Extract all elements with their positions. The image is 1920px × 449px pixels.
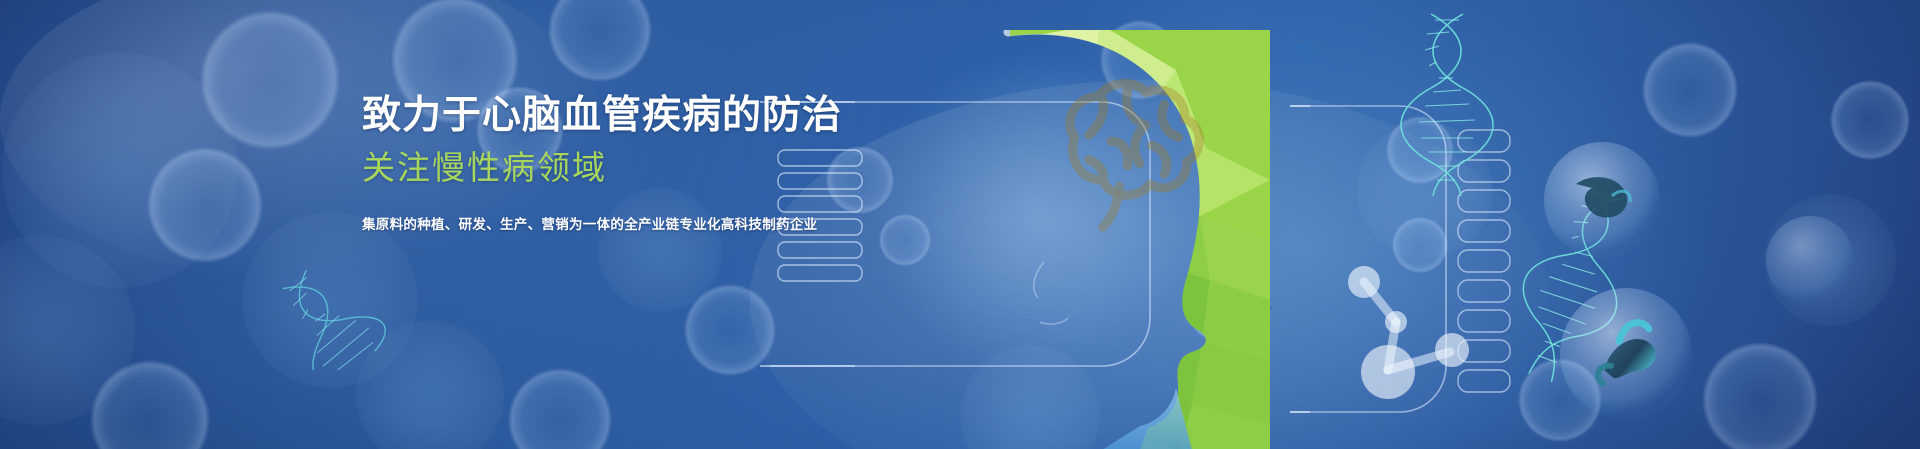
low-poly-human-head-icon xyxy=(840,30,1270,449)
spore-particle-top xyxy=(1280,30,1340,85)
hero-subhead: 关注慢性病领域 xyxy=(362,151,792,184)
cell-cluster xyxy=(1480,140,1920,449)
headline-tail: 的防治 xyxy=(722,94,842,137)
hero-text-block: 致力于心脑血管疾病的防治 关注慢性病领域 集原料的种植、研发、生产、营销为一体的… xyxy=(362,96,792,233)
low-poly-head xyxy=(840,30,1270,449)
dna-helix-left xyxy=(270,260,400,375)
brain-overlay-icon xyxy=(1070,83,1199,227)
headline-lead: 致力于 xyxy=(362,94,482,137)
molecule xyxy=(1340,260,1510,425)
cell-cluster-svg xyxy=(1480,140,1920,449)
molecule-icon xyxy=(1340,260,1510,420)
headline-accent: 心脑血管疾病 xyxy=(482,94,722,137)
cell-icon xyxy=(1544,142,1660,258)
dna-helix-icon xyxy=(270,260,400,370)
profile-detail xyxy=(1034,262,1068,324)
hero-headline: 致力于心脑血管疾病的防治 xyxy=(362,96,792,135)
cell-icon xyxy=(1766,216,1854,304)
spore-icon xyxy=(1280,30,1340,80)
hero-banner: 致力于心脑血管疾病的防治 关注慢性病领域 集原料的种植、研发、生产、营销为一体的… xyxy=(0,0,1920,449)
cell-icon xyxy=(1560,288,1692,420)
hero-tagline: 集原料的种植、研发、生产、营销为一体的全产业链专业化高科技制药企业 xyxy=(362,213,792,233)
